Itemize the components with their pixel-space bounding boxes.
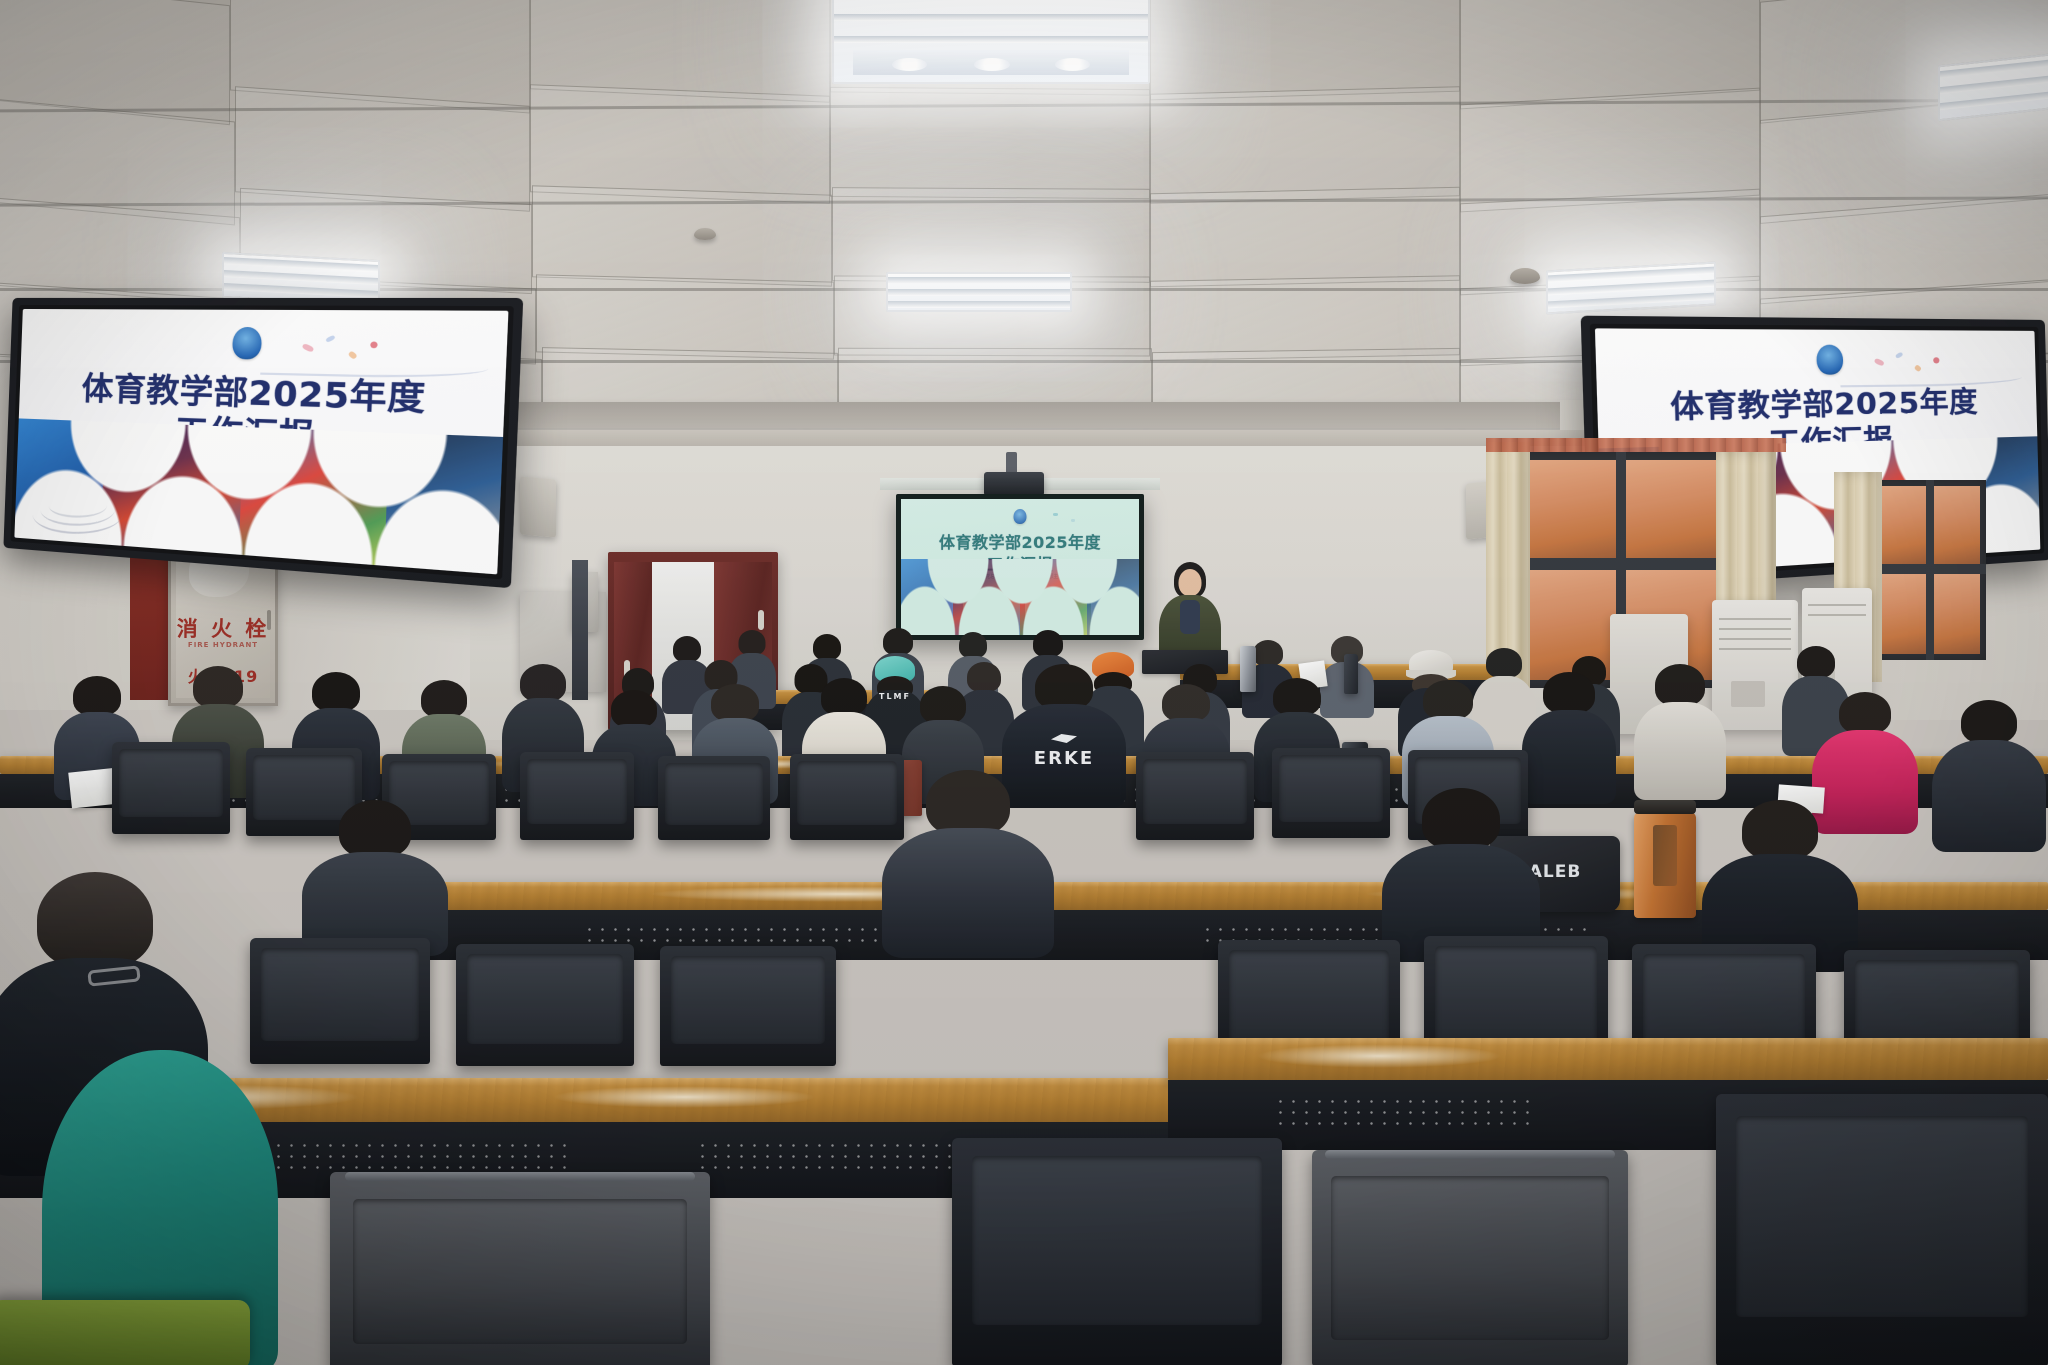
chair-foreground[interactable] — [1312, 1150, 1628, 1365]
university-emblem-icon — [1816, 345, 1843, 375]
chair-foreground[interactable] — [1716, 1094, 2048, 1365]
confetti-dot — [1874, 358, 1885, 367]
wall-trim — [470, 430, 1610, 446]
chair[interactable] — [658, 756, 770, 840]
confetti-dot — [302, 343, 315, 353]
chair-foreground[interactable] — [330, 1172, 710, 1365]
smoke-detector-icon — [694, 228, 716, 240]
chair[interactable] — [112, 742, 230, 834]
copper-thermos-bottle — [1634, 812, 1696, 918]
ceiling-light-panel-right — [1546, 262, 1716, 315]
ceiling-light-panel-mid — [886, 272, 1072, 312]
audience-member — [880, 770, 1056, 950]
projector-slide-title-line1: 体育教学部2025年度 — [901, 529, 1139, 553]
chair[interactable] — [1272, 748, 1390, 838]
university-emblem-icon — [232, 327, 262, 360]
confetti-dot — [370, 341, 377, 348]
door-handle-icon[interactable] — [758, 610, 764, 630]
chair[interactable] — [250, 938, 430, 1064]
foreground-person-hair — [37, 872, 153, 968]
meeting-room-photo: 消 火 栓 FIRE HYDRANT 火警119 体育教学部2025年度 工作汇… — [0, 0, 2048, 1365]
fire-cabinet-label: 消 火 栓 — [171, 613, 275, 643]
smoke-detector-icon — [1510, 268, 1540, 284]
projector-screen: 体育教学部2025年度 工作汇报 体育教学部党总支书记 刘仲南 体育教学部主任 … — [896, 494, 1144, 640]
confetti-dot — [1071, 519, 1075, 522]
confetti-dot — [325, 335, 335, 343]
projector-mount — [1006, 452, 1017, 474]
ceiling-light-panel-center — [832, 0, 1150, 84]
chair[interactable] — [520, 752, 634, 840]
confetti-dot — [1053, 513, 1058, 516]
chair[interactable] — [1136, 752, 1254, 840]
curtain-valance — [1486, 438, 1786, 452]
chair-foreground[interactable] — [952, 1138, 1282, 1365]
left-display-tv: 体育教学部2025年度 工作汇报 体育教学部党总支书记 刘仲南 体育教学部主任 … — [3, 298, 523, 588]
confetti-dot — [1933, 357, 1939, 363]
window-far-right — [1876, 480, 1986, 660]
chair[interactable] — [456, 944, 634, 1066]
chair[interactable] — [660, 946, 836, 1066]
fire-cabinet-sub-label: FIRE HYDRANT — [171, 641, 275, 649]
university-emblem-icon — [1014, 509, 1027, 524]
seat-cushion-green[interactable] — [0, 1300, 250, 1365]
audience-member — [1380, 788, 1542, 956]
wall-speaker-left — [520, 476, 556, 537]
confetti-dot — [1895, 352, 1903, 359]
presenter-head — [1179, 569, 1202, 596]
audience-member — [1930, 700, 2048, 850]
thermos-bottle — [1344, 654, 1358, 694]
jacket-brand-text: ERKE — [1000, 748, 1128, 769]
audience-member — [1520, 672, 1618, 802]
audience-member — [1700, 800, 1860, 966]
projector — [984, 472, 1044, 496]
audience-member — [1632, 664, 1728, 798]
audience-member — [300, 800, 450, 950]
